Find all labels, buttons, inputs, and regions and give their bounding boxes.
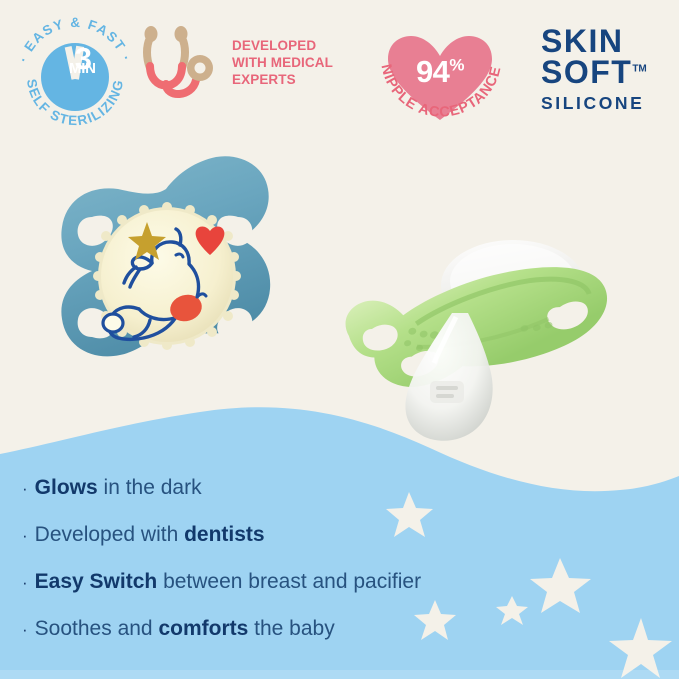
feature-bold-4: comforts xyxy=(158,617,248,640)
bullet-dot: · xyxy=(22,574,28,591)
feature-text-3: between breast and pacifier xyxy=(157,570,421,593)
badge-self-sterilizing: · EASY & FAST · SELF STERILIZING 3 MIN xyxy=(14,16,136,138)
medical-line-2: WITH MEDICAL xyxy=(232,55,333,72)
logo-line-soft: SOFTTM xyxy=(541,57,676,88)
medical-experts-text: DEVELOPED WITH MEDICAL EXPERTS xyxy=(232,38,333,89)
medical-line-1: DEVELOPED xyxy=(232,38,333,55)
feature-text-4a: Soothes and xyxy=(35,617,159,640)
feature-bold-2: dentists xyxy=(184,523,265,546)
acceptance-value: 94% xyxy=(372,56,508,87)
list-item: · Easy Switch between breast and pacifie… xyxy=(22,571,582,592)
product-infographic: · EASY & FAST · SELF STERILIZING 3 MIN xyxy=(0,0,679,679)
feature-list: · Glows in the dark · Developed with den… xyxy=(22,477,582,665)
stethoscope-icon xyxy=(140,24,226,116)
feature-bold-1: Glows xyxy=(35,476,98,499)
logo-line-silicone: SILICONE xyxy=(541,93,676,114)
feature-bold-3: Easy Switch xyxy=(35,570,158,593)
bullet-dot: · xyxy=(22,621,28,638)
header-badge-row: · EASY & FAST · SELF STERILIZING 3 MIN xyxy=(0,0,679,145)
features-panel: · Glows in the dark · Developed with den… xyxy=(0,390,679,679)
skin-soft-logo: SKIN SOFTTM SILICONE xyxy=(541,26,676,114)
sterilize-minutes-unit: MIN xyxy=(69,61,96,76)
blue-glow-pacifier xyxy=(61,156,270,356)
logo-line-skin: SKIN xyxy=(541,26,676,57)
medical-line-3: EXPERTS xyxy=(232,72,333,89)
bullet-dot: · xyxy=(22,527,28,544)
badge-nipple-acceptance: NIPPLE ACCEPTANCE 94% xyxy=(372,18,508,140)
bottom-edge-band xyxy=(0,670,679,679)
feature-text-2: Developed with xyxy=(35,523,184,546)
list-item: · Soothes and comforts the baby xyxy=(22,618,582,639)
list-item: · Developed with dentists xyxy=(22,524,582,545)
feature-text-4b: the baby xyxy=(248,617,334,640)
trademark-mark: TM xyxy=(632,64,646,75)
list-item: · Glows in the dark xyxy=(22,477,582,498)
feature-text-1: in the dark xyxy=(98,476,202,499)
bullet-dot: · xyxy=(22,480,28,497)
